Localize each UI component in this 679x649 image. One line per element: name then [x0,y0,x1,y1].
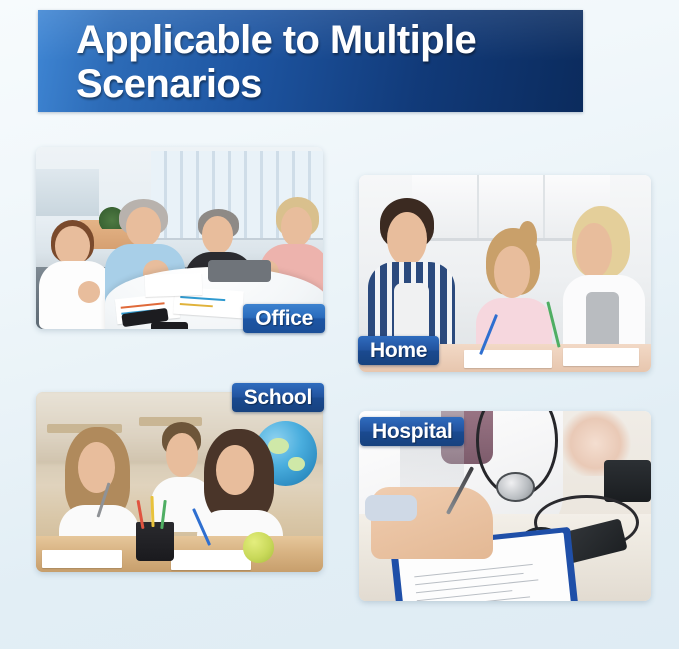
home-notebook-2 [563,348,639,366]
scenario-label-home[interactable]: Home [358,336,439,365]
office-phone-2 [151,322,188,329]
office-chart-paper-3 [145,273,203,297]
school-photo [36,392,323,572]
office-person-1 [39,220,114,329]
scenario-label-hospital[interactable]: Hospital [360,417,464,446]
scenario-label-office[interactable]: Office [243,304,325,333]
scenario-panel-home[interactable]: Home [359,175,651,372]
office-tablet [208,260,271,282]
scenario-label-school[interactable]: School [232,383,324,412]
scenario-panel-office[interactable]: Office [36,147,323,329]
infographic-page: Applicable to Multiple Scenarios [0,0,679,649]
school-notebook-left [42,550,122,568]
hospital-shirt-cuff [365,495,418,522]
scenario-panel-school[interactable]: School [36,392,323,572]
home-notebook-1 [464,350,552,368]
header-banner: Applicable to Multiple Scenarios [38,10,583,112]
scenario-panel-hospital[interactable]: Hospital [359,411,651,601]
page-title: Applicable to Multiple Scenarios [76,18,577,106]
office-cabinet [36,169,99,216]
office-photo [36,147,323,329]
hospital-device [604,460,651,502]
school-apple [243,532,275,563]
school-notebook-right [171,550,251,570]
